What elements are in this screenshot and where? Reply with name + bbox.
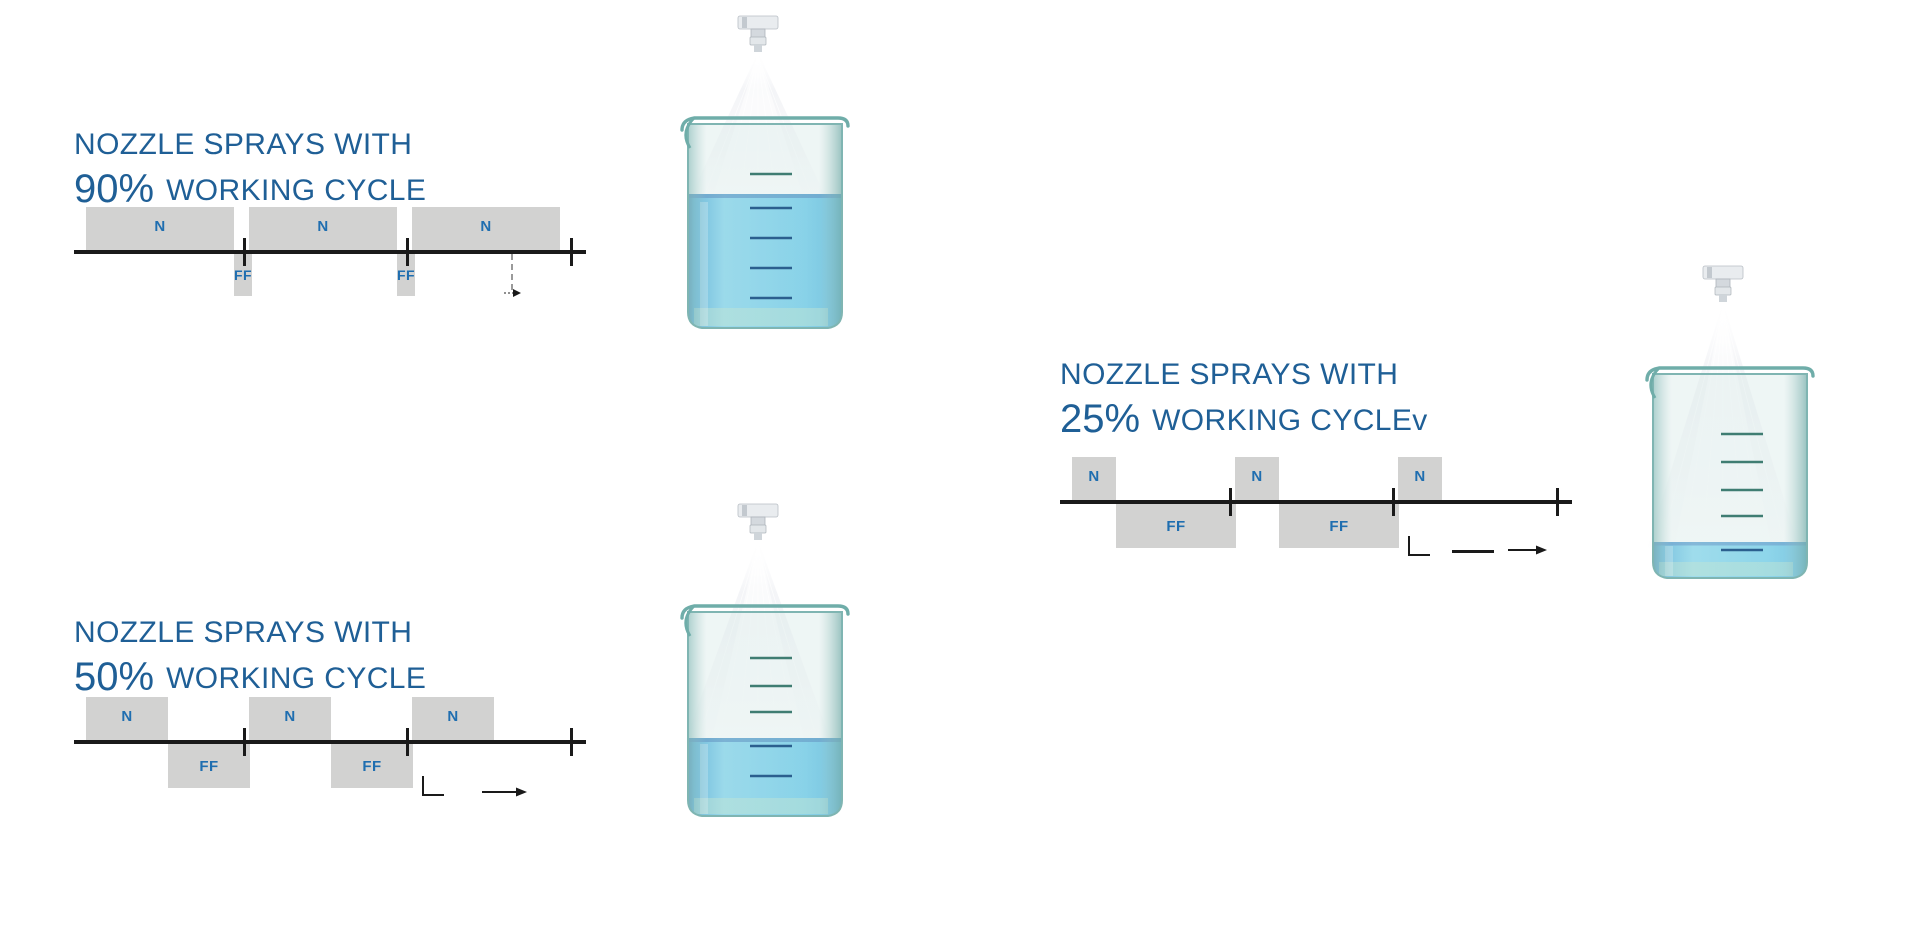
heading-line2-25: 25%WORKING CYCLEv [1060, 399, 1428, 439]
on-box-label: N [1251, 468, 1262, 485]
beaker-glass [1653, 374, 1807, 578]
axis-tick [1392, 488, 1395, 516]
off-box-label: FF [1329, 519, 1348, 534]
beaker-figure-25 [1645, 262, 1860, 592]
off-box-label: FF [362, 759, 381, 774]
end-dash-segment [1452, 550, 1494, 553]
heading-line1-25: NOZZLE SPRAYS WITH [1060, 360, 1428, 390]
on-box-label: N [317, 218, 328, 235]
off-box: FF [1279, 504, 1399, 548]
heading-line1-90: NOZZLE SPRAYS WITH [74, 130, 426, 160]
beaker-50-svg [680, 500, 895, 830]
axis-tick [1229, 488, 1232, 516]
axis-tick [570, 728, 573, 756]
spray-nozzle-icon [738, 16, 778, 52]
percent-value-25: 25% [1060, 397, 1140, 441]
timing-diagram-25: N N N FF FF [1060, 450, 1500, 580]
end-arrow-icon [1508, 544, 1548, 556]
end-arrow-icon [504, 288, 524, 298]
off-box-label: FF [1166, 519, 1185, 534]
on-box: N [249, 697, 331, 740]
timeline-axis [74, 740, 586, 744]
off-box: FF [1116, 504, 1236, 548]
timeline-axis [74, 250, 586, 254]
axis-tick [570, 238, 573, 266]
beaker-figure-50 [680, 500, 895, 830]
on-box: N [86, 207, 234, 250]
end-dashed-line [511, 254, 513, 290]
heading-90: NOZZLE SPRAYS WITH 90%WORKING CYCLE [74, 130, 426, 209]
on-box-label: N [154, 218, 165, 235]
on-box: N [86, 697, 168, 740]
axis-tick [243, 728, 246, 756]
timing-diagram-50: N N N FF FF [74, 690, 514, 820]
heading-25: NOZZLE SPRAYS WITH 25%WORKING CYCLEv [1060, 360, 1428, 439]
heading-line1-50: NOZZLE SPRAYS WITH [74, 618, 426, 648]
on-box: N [1398, 457, 1442, 500]
beaker-25-svg [1645, 262, 1860, 592]
beaker-figure-90 [680, 12, 895, 342]
off-box-label: FF [397, 268, 415, 282]
end-arrow-icon [482, 786, 528, 798]
on-box: N [249, 207, 397, 250]
on-box-label: N [1088, 468, 1099, 485]
axis-tick [406, 238, 409, 266]
heading-50: NOZZLE SPRAYS WITH 50%WORKING CYCLE [74, 618, 426, 697]
on-box-label: N [480, 218, 491, 235]
axis-tick [1556, 488, 1559, 516]
spray-nozzle-icon [1703, 266, 1743, 302]
working-cycle-label-25: WORKING CYCLEv [1152, 404, 1428, 437]
on-box-label: N [121, 708, 132, 725]
on-box-label: N [447, 708, 458, 725]
on-box: N [412, 207, 560, 250]
beaker-glass [688, 612, 842, 816]
on-box-label: N [284, 708, 295, 725]
off-box: FF [331, 744, 413, 788]
off-box-label: FF [234, 268, 252, 282]
on-box: N [1235, 457, 1279, 500]
beaker-90-svg [680, 12, 895, 342]
off-box-label: FF [199, 759, 218, 774]
on-box: N [1072, 457, 1116, 500]
axis-tick [406, 728, 409, 756]
timing-diagram-90: N N N FF FF [74, 200, 514, 330]
spray-nozzle-icon [738, 504, 778, 540]
on-box: N [412, 697, 494, 740]
on-box-label: N [1414, 468, 1425, 485]
off-box: FF [168, 744, 250, 788]
axis-tick [243, 238, 246, 266]
end-corner-marker [422, 776, 444, 796]
end-corner-marker [1408, 536, 1430, 556]
